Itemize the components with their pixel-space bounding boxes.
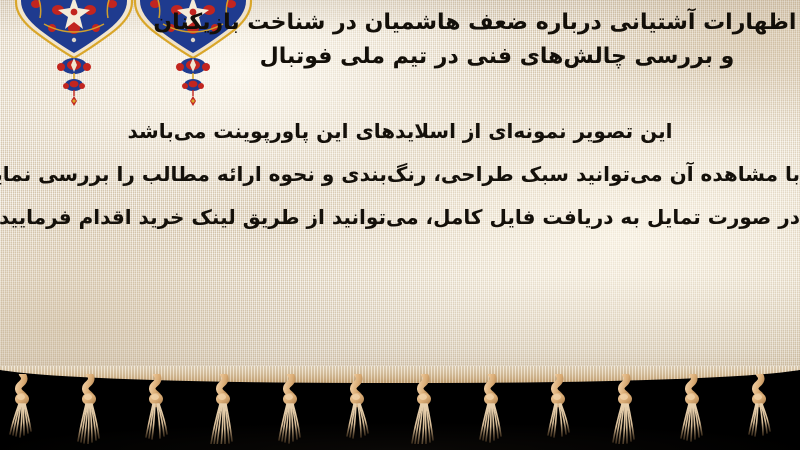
fringe-tassel bbox=[75, 374, 105, 444]
body-line-3: در صورت تمایل به دریافت فایل کامل، می‌تو… bbox=[0, 196, 800, 239]
slide-title: یل اظهارات آشتیانی درباره ضعف هاشمیان در… bbox=[206, 6, 800, 74]
fringe-tassel bbox=[678, 374, 708, 444]
fringe-tassel bbox=[745, 374, 775, 444]
slide-title-line-2: و بررسی چالش‌های فنی در تیم ملی فوتبال bbox=[206, 40, 788, 74]
presentation-slide: یل اظهارات آشتیانی درباره ضعف هاشمیان در… bbox=[0, 0, 800, 450]
fringe-tassel bbox=[477, 374, 507, 444]
fringe-tassel bbox=[142, 374, 172, 444]
body-line-2: با مشاهده آن می‌توانید سبک طراحی، رنگ‌بن… bbox=[0, 153, 800, 196]
slide-body-text: این تصویر نمونه‌ای از اسلایدهای این پاور… bbox=[0, 110, 800, 239]
fringe-tassel bbox=[276, 374, 306, 444]
fringe-tassel bbox=[8, 374, 38, 444]
fringe-tassel bbox=[611, 374, 641, 444]
body-line-1: این تصویر نمونه‌ای از اسلایدهای این پاور… bbox=[0, 110, 800, 153]
persian-pendant-ornament-1 bbox=[53, 56, 95, 116]
carpet-fringe-band bbox=[0, 366, 800, 450]
fringe-tassel bbox=[544, 374, 574, 444]
fringe-tassel bbox=[209, 374, 239, 444]
slide-title-line-1: یل اظهارات آشتیانی درباره ضعف هاشمیان در… bbox=[206, 6, 800, 40]
fringe-tassel bbox=[343, 374, 373, 444]
persian-medallion-ornament-1 bbox=[14, 0, 134, 60]
fringe-tassel bbox=[410, 374, 440, 444]
